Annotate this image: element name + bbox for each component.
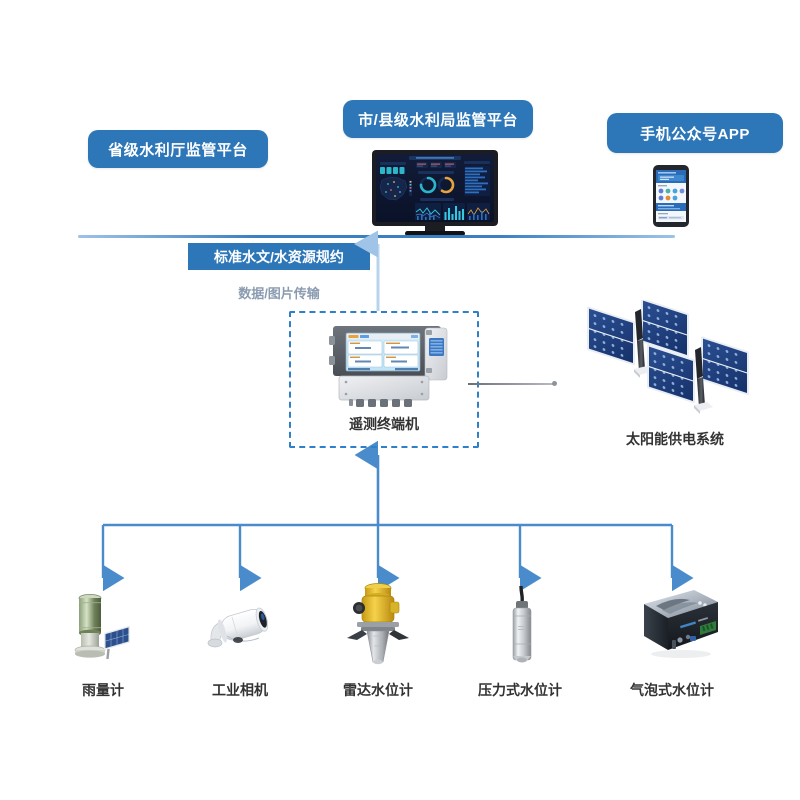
rtu-device-graphics	[325, 324, 455, 412]
rain-gauge-graphics	[68, 586, 140, 668]
sensor-label-bubble-level: 气泡式水位计	[607, 680, 737, 700]
solar-power-system	[585, 300, 765, 435]
antenna-rod	[468, 383, 556, 385]
sensor-label-radar-level: 雷达水位计	[313, 680, 443, 700]
platform-provincial[interactable]: 省级水利厅监管平台	[88, 130, 268, 168]
sensor-label-rain-gauge: 雨量计	[38, 680, 168, 700]
platform-mobile-app-label: 手机公众号APP	[640, 123, 750, 144]
dashboard-graphics	[376, 154, 494, 222]
platform-city-county[interactable]: 市/县级水利局监管平台	[343, 100, 533, 138]
platform-city-county-label: 市/县级水利局监管平台	[358, 109, 518, 130]
sensor-label-pressure-level: 压力式水位计	[455, 680, 585, 700]
mobile-phone	[653, 165, 689, 227]
industrial-camera-graphics	[205, 600, 277, 658]
rtu-device	[325, 324, 455, 417]
sensor-pressure-level	[502, 586, 542, 673]
sensor-radar-level	[345, 580, 415, 673]
platform-provincial-label: 省级水利厅监管平台	[108, 139, 248, 160]
sensor-label-industrial-cam: 工业相机	[175, 680, 305, 700]
solar-caption: 太阳能供电系统	[585, 429, 765, 449]
monitor-display	[372, 150, 498, 226]
phone-app-graphics	[656, 170, 686, 222]
sensor-bubble-level	[628, 588, 720, 669]
platform-mobile-app[interactable]: 手机公众号APP	[607, 113, 783, 153]
bubble-level-graphics	[628, 588, 720, 664]
sensor-industrial-camera	[205, 600, 277, 663]
phone-screen	[656, 170, 686, 222]
protocol-standard-label: 标准水文/水资源规约	[214, 247, 344, 267]
sensor-rain-gauge	[68, 586, 140, 673]
pressure-level-graphics	[502, 586, 542, 668]
radar-level-graphics	[345, 580, 415, 668]
rtu-caption: 遥测终端机	[289, 414, 479, 434]
protocol-transfer-label: 数据/图片传输	[188, 283, 370, 302]
solar-panels-graphics	[585, 300, 765, 430]
backbone-line	[78, 235, 675, 238]
antenna-tip	[552, 381, 557, 386]
dashboard-screen	[376, 154, 494, 222]
diagram-canvas: 省级水利厅监管平台 市/县级水利局监管平台 手机公众号APP	[0, 0, 800, 800]
protocol-standard-box: 标准水文/水资源规约	[188, 243, 370, 270]
